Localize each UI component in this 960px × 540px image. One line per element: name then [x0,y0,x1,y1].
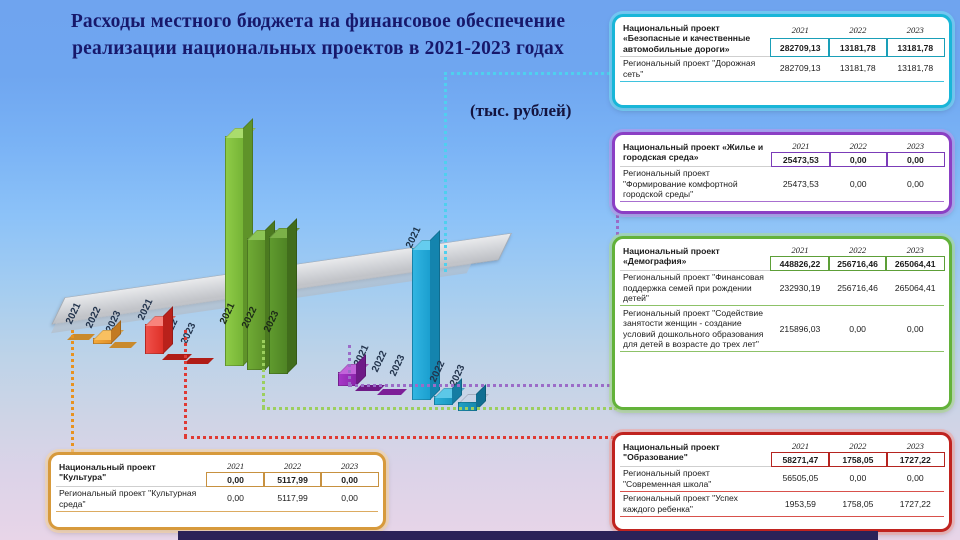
table-demography: Национальный проект «Демография» 2021 20… [620,243,944,352]
col-header-2022: 2022 [829,439,886,453]
value-2022: 0,00 [829,466,886,491]
col-header-2023: 2023 [321,459,378,473]
table-row: Региональный проект "Успех каждого ребен… [620,491,944,516]
col-header-2022: 2022 [264,459,321,473]
bar-housing-2023 [377,389,407,395]
col-header-2023: 2023 [887,21,944,39]
table-row: Национальный проект «Жилье и городская с… [620,139,944,153]
regional-project-name: Региональный проект "Современная школа" [620,466,772,491]
bar-chart-3d: 2021 2022 2023 2021 2022 2023 2021 [40,60,540,390]
value-2023: 13181,78 [887,39,944,57]
col-header-2021: 2021 [771,243,829,257]
value-2022: 5117,99 [264,473,321,487]
project-name: Национальный проект «Безопасные и качест… [620,21,771,56]
value-2021: 448826,22 [771,257,829,271]
regional-project-name: Региональный проект "Формирование комфор… [620,166,772,202]
col-header-2021: 2021 [771,21,829,39]
value-2021: 282709,13 [771,39,829,57]
footer-bar [178,531,878,540]
table-culture: Национальный проект "Культура" 2021 2022… [56,459,378,512]
bar-year-label: 2023 [388,353,407,378]
col-header-2023: 2023 [887,439,944,453]
value-2023: 0,00 [887,466,944,491]
bar-education-2023 [184,358,214,364]
value-2022: 256716,46 [829,270,887,306]
table-roads: Национальный проект «Безопасные и качест… [620,21,944,82]
value-2023: 265064,41 [886,270,944,306]
col-header-2023: 2023 [887,139,944,153]
col-header-2021: 2021 [772,439,830,453]
value-2022: 1758,05 [829,453,886,467]
table-row: Национальный проект «Безопасные и качест… [620,21,944,39]
value-2021: 25473,53 [772,153,830,167]
card-housing[interactable]: Национальный проект «Жилье и городская с… [612,132,952,214]
col-header-2022: 2022 [830,139,887,153]
table-row: Региональный проект "Дорожная сеть" 2827… [620,56,944,81]
value-2021: 0,00 [207,486,264,511]
value-2023: 0,00 [886,306,944,352]
col-header-2022: 2022 [829,243,887,257]
value-2022: 13181,78 [829,56,886,81]
value-2023: 0,00 [321,473,378,487]
table-row: Региональный проект "Современная школа" … [620,466,944,491]
card-education[interactable]: Национальный проект "Образование" 2021 2… [612,432,952,532]
value-2023: 0,00 [321,486,378,511]
value-2023: 13181,78 [887,56,944,81]
col-header-2023: 2023 [886,243,944,257]
bar-roads-2022 [434,396,453,405]
col-header-2021: 2021 [772,139,830,153]
bar-culture-2022 [93,338,112,344]
value-2023: 265064,41 [886,257,944,271]
value-2022: 0,00 [830,153,887,167]
table-housing: Национальный проект «Жилье и городская с… [620,139,944,202]
project-name: Национальный проект "Образование" [620,439,772,466]
project-name: Национальный проект "Культура" [56,459,207,486]
table-row: Региональный проект "Формирование комфор… [620,166,944,202]
page-title: Расходы местного бюджета на финансовое о… [38,8,598,62]
regional-project-name: Региональный проект "Культурная среда" [56,486,207,511]
value-2021: 56505,05 [772,466,830,491]
value-2021: 0,00 [207,473,264,487]
value-2021: 25473,53 [772,166,830,202]
project-name: Национальный проект «Жилье и городская с… [620,139,772,166]
table-row: Региональный проект "Финансовая поддержк… [620,270,944,306]
value-2022: 5117,99 [264,486,321,511]
value-2021: 215896,03 [771,306,829,352]
card-culture[interactable]: Национальный проект "Культура" 2021 2022… [48,452,386,530]
value-2022: 13181,78 [829,39,886,57]
value-2022: 0,00 [829,306,887,352]
table-row: Региональный проект "Культурная среда" 0… [56,486,378,511]
col-header-2021: 2021 [207,459,264,473]
value-2021: 282709,13 [771,56,829,81]
value-2023: 0,00 [887,153,944,167]
regional-project-name: Региональный проект "Содействие занятост… [620,306,771,352]
value-2022: 256716,46 [829,257,887,271]
table-row: Национальный проект «Демография» 2021 20… [620,243,944,257]
bar-demography-2023: 2023 [269,236,288,374]
bar-demography-2021: 2021 [225,136,244,366]
col-header-2022: 2022 [829,21,886,39]
table-education: Национальный проект "Образование" 2021 2… [620,439,944,517]
bar-culture-2023 [109,342,137,348]
card-demography[interactable]: Национальный проект «Демография» 2021 20… [612,236,952,410]
value-2022: 0,00 [830,166,887,202]
project-name: Национальный проект «Демография» [620,243,771,270]
bar-year-label: 2022 [370,349,389,374]
value-2022: 1758,05 [829,491,886,516]
value-2021: 58271,47 [772,453,830,467]
table-row: Региональный проект "Содействие занятост… [620,306,944,352]
regional-project-name: Региональный проект "Дорожная сеть" [620,56,771,81]
value-2023: 1727,22 [887,491,944,516]
regional-project-name: Региональный проект "Финансовая поддержк… [620,270,771,306]
bar-year-label: 2023 [179,321,198,346]
table-row: Национальный проект "Образование" 2021 2… [620,439,944,453]
value-2021: 232930,19 [771,270,829,306]
table-row: Национальный проект "Культура" 2021 2022… [56,459,378,473]
value-2023: 0,00 [887,166,944,202]
value-2021: 1953,59 [772,491,830,516]
bar-education-2021 [145,324,164,354]
card-roads[interactable]: Национальный проект «Безопасные и качест… [612,14,952,108]
value-2023: 1727,22 [887,453,944,467]
regional-project-name: Региональный проект "Успех каждого ребен… [620,491,772,516]
